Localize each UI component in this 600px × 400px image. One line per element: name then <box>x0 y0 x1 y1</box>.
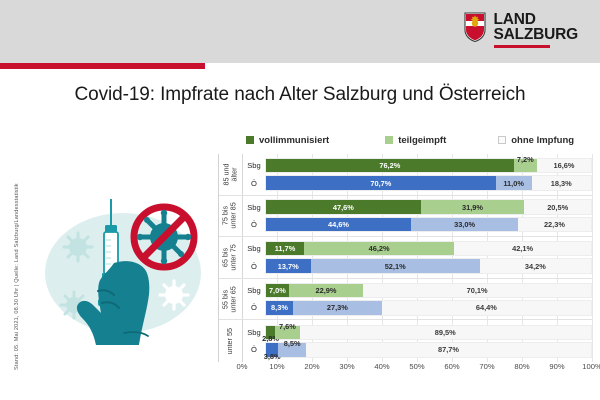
stacked-bar[interactable]: 8,3%27,3%64,4% <box>265 300 592 316</box>
stacked-bar[interactable]: 11,7%46,2%42,1% <box>265 241 592 257</box>
legend-swatch-none-icon <box>498 136 506 144</box>
x-axis-tick: 90% <box>549 362 564 371</box>
row-region-label: Sbg <box>243 203 265 212</box>
chart-row: Sbg2,8%7,6%89,5% <box>243 325 592 341</box>
page-header: LAND SALZBURG <box>0 0 600 63</box>
segment-ohne-impfung: 70,1% <box>363 284 591 298</box>
header-accent-bar <box>0 63 205 69</box>
segment-teilgeimpft: 7,2% <box>514 159 537 173</box>
segment-ohne-impfung: 20,5% <box>524 200 591 214</box>
x-axis-tick: 10% <box>269 362 284 371</box>
chart-row: Sbg76,2%7,2%16,6% <box>243 158 592 174</box>
segment-teilgeimpft: 11,0% <box>496 176 532 190</box>
stacked-bar[interactable]: 44,6%33,0%22,3% <box>265 217 592 233</box>
group-axis-label: unter 55 <box>219 320 243 362</box>
stacked-bar[interactable]: 76,2%7,2%16,6% <box>265 158 592 174</box>
stacked-bar[interactable]: 2,8%7,6%89,5% <box>265 325 592 341</box>
x-axis-tick: 60% <box>444 362 459 371</box>
stacked-bar[interactable]: 13,7%52,1%34,2% <box>265 258 592 274</box>
row-region-label: Sbg <box>243 244 265 253</box>
x-axis: 0%10%20%30%40%50%60%70%80%90%100% <box>242 362 592 376</box>
chart-row: Ö44,6%33,0%22,3% <box>243 217 592 233</box>
virus-decoration-right <box>160 281 188 309</box>
x-axis-tick: 50% <box>409 362 424 371</box>
chart-row: Sbg11,7%46,2%42,1% <box>243 241 592 257</box>
stacked-bar[interactable]: 70,7%11,0%18,3% <box>265 175 592 191</box>
group-axis-label: 75 bisunter 85 <box>219 196 243 237</box>
salzburg-coat-of-arms-icon <box>464 12 486 42</box>
x-axis-tick: 100% <box>582 362 600 371</box>
chart-row: Ö8,3%27,3%64,4% <box>243 300 592 316</box>
chart-row: Sbg7,0%22,9%70,1% <box>243 283 592 299</box>
segment-ohne-impfung: 22,3% <box>518 218 590 232</box>
segment-ohne-impfung: 89,5% <box>300 326 591 340</box>
segment-vollimmunisiert: 76,2% <box>266 159 514 173</box>
x-axis-tick: 40% <box>374 362 389 371</box>
segment-vollimmunisiert: 7,0% <box>266 284 289 298</box>
segment-ohne-impfung: 42,1% <box>454 242 591 256</box>
x-axis-tick: 20% <box>304 362 319 371</box>
row-region-label: Sbg <box>243 161 265 170</box>
legend-label-vollimmunisiert: vollimmunisiert <box>259 135 329 146</box>
legend-item-ohne-impfung[interactable]: ohne Impfung <box>498 135 574 146</box>
virus-decoration-left <box>64 233 92 261</box>
segment-ohne-impfung: 18,3% <box>532 176 591 190</box>
group-axis-label: 85 undälter <box>219 154 243 195</box>
group-axis-label: 55 bisunter 65 <box>219 279 243 320</box>
gridline <box>592 154 593 362</box>
x-axis-tick: 0% <box>237 362 248 371</box>
segment-ohne-impfung: 34,2% <box>480 259 591 273</box>
segment-vollimmunisiert: 70,7% <box>266 176 496 190</box>
chart-row: Sbg47,6%31,9%20,5% <box>243 199 592 215</box>
segment-teilgeimpft: 8,5% <box>278 343 306 357</box>
x-axis-tick: 30% <box>339 362 354 371</box>
legend-label-ohne-impfung: ohne Impfung <box>511 135 574 146</box>
chart-group: 75 bisunter 85Sbg47,6%31,9%20,5%Ö44,6%33… <box>219 196 592 238</box>
chart-row: Ö70,7%11,0%18,3% <box>243 175 592 191</box>
segment-vollimmunisiert: 44,6% <box>266 218 411 232</box>
segment-teilgeimpft: 27,3% <box>293 301 382 315</box>
segment-teilgeimpft: 7,6% <box>275 326 300 340</box>
chart-group: unter 55Sbg2,8%7,6%89,5%Ö3,8%8,5%87,7% <box>219 320 592 362</box>
legend-swatch-full-icon <box>246 136 254 144</box>
segment-teilgeimpft: 46,2% <box>304 242 454 256</box>
segment-ohne-impfung: 64,4% <box>382 301 591 315</box>
logo-underline <box>494 45 550 48</box>
row-region-label: Ö <box>243 303 265 312</box>
x-axis-tick: 70% <box>479 362 494 371</box>
stacked-bar[interactable]: 47,6%31,9%20,5% <box>265 199 592 215</box>
blocked-virus-icon <box>134 207 194 267</box>
row-region-label: Ö <box>243 262 265 271</box>
vaccination-illustration <box>28 185 218 345</box>
vaccination-chart: vollimmunisiert teilgeimpft ohne Impfung… <box>218 130 592 388</box>
segment-vollimmunisiert: 8,3% <box>266 301 293 315</box>
segment-teilgeimpft: 22,9% <box>289 284 363 298</box>
chart-group: 85 undälterSbg76,2%7,2%16,6%Ö70,7%11,0%1… <box>219 154 592 196</box>
legend-swatch-part-icon <box>385 136 393 144</box>
row-region-label: Ö <box>243 345 265 354</box>
row-region-label: Ö <box>243 179 265 188</box>
group-axis-label: 65 bisunter 75 <box>219 237 243 278</box>
segment-vollimmunisiert: 47,6% <box>266 200 421 214</box>
land-salzburg-logo: LAND SALZBURG <box>464 12 578 48</box>
legend-item-vollimmunisiert[interactable]: vollimmunisiert <box>246 135 329 146</box>
segment-vollimmunisiert: 2,8% <box>266 326 275 340</box>
chart-row: Ö3,8%8,5%87,7% <box>243 342 592 358</box>
segment-teilgeimpft: 52,1% <box>311 259 480 273</box>
logo-line-land: LAND <box>493 12 578 27</box>
x-axis-tick: 80% <box>514 362 529 371</box>
segment-teilgeimpft: 31,9% <box>421 200 525 214</box>
segment-vollimmunisiert: 11,7% <box>266 242 304 256</box>
chart-row: Ö13,7%52,1%34,2% <box>243 258 592 274</box>
row-region-label: Sbg <box>243 286 265 295</box>
stacked-bar[interactable]: 3,8%8,5%87,7% <box>265 342 592 358</box>
stacked-bar[interactable]: 7,0%22,9%70,1% <box>265 283 592 299</box>
chart-plot-area: 85 undälterSbg76,2%7,2%16,6%Ö70,7%11,0%1… <box>218 154 592 362</box>
segment-vollimmunisiert: 13,7% <box>266 259 311 273</box>
legend-label-teilgeimpft: teilgeimpft <box>398 135 446 146</box>
page-title: Covid-19: Impfrate nach Alter Salzburg u… <box>0 84 600 106</box>
chart-legend: vollimmunisiert teilgeimpft ohne Impfung <box>218 130 592 150</box>
chart-group: 55 bisunter 65Sbg7,0%22,9%70,1%Ö8,3%27,3… <box>219 279 592 321</box>
segment-teilgeimpft: 33,0% <box>411 218 518 232</box>
row-region-label: Ö <box>243 220 265 229</box>
source-credit: Stand: 05. Mai 2021, 08.30 Uhr | Quelle:… <box>14 180 20 370</box>
chart-group: 65 bisunter 75Sbg11,7%46,2%42,1%Ö13,7%52… <box>219 237 592 279</box>
segment-ohne-impfung: 16,6% <box>537 159 591 173</box>
legend-item-teilgeimpft[interactable]: teilgeimpft <box>385 135 446 146</box>
segment-vollimmunisiert: 3,8% <box>266 343 278 357</box>
logo-line-salzburg: SALZBURG <box>493 27 578 42</box>
segment-ohne-impfung: 87,7% <box>306 343 591 357</box>
